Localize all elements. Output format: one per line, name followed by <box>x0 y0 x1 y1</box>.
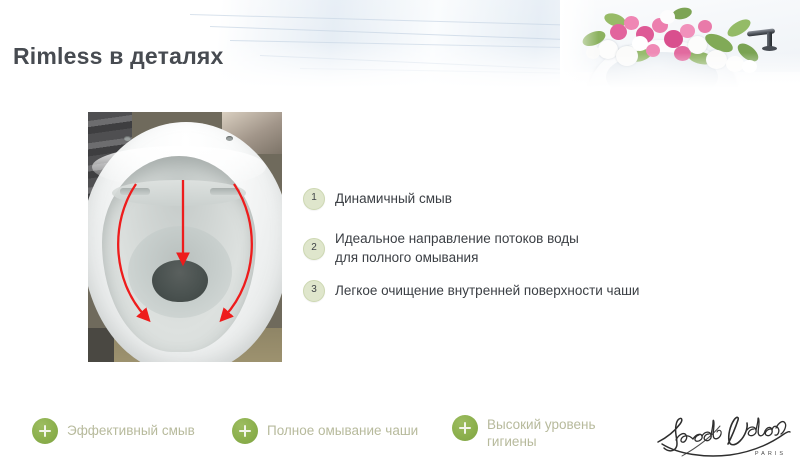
list-number-badge: 2 <box>303 238 325 260</box>
plus-icon <box>452 415 478 441</box>
left-swirl-arrow <box>118 184 145 316</box>
list-item-label: Легкое очищение внутренней поверхности ч… <box>335 280 639 300</box>
flowers-in-basin-photo <box>560 0 800 88</box>
list-item-label: Идеальное направление потоков воды для п… <box>335 228 579 267</box>
feature-label: Высокий уровень гигиены <box>487 415 596 450</box>
feature-item-full-rinse: Полное омывание чаши <box>232 418 418 444</box>
logo-tagline: PARIS <box>755 451 786 457</box>
feature-label: Эффективный смыв <box>67 418 195 439</box>
brand-logo: PARIS <box>652 408 792 464</box>
list-item-label: Динамичный смыв <box>335 188 452 208</box>
feature-item-effective-flush: Эффективный смыв <box>32 418 195 444</box>
list-item: 1 Динамичный смыв <box>303 188 452 210</box>
plus-icon <box>232 418 258 444</box>
slide-canvas: Rimless в деталях <box>0 0 800 468</box>
rimless-bowl-top-view-photo <box>88 112 282 362</box>
water-flow-arrows <box>88 112 282 362</box>
list-number-badge: 1 <box>303 188 325 210</box>
feature-label: Полное омывание чаши <box>267 418 418 439</box>
right-swirl-arrow <box>225 184 252 316</box>
list-item: 3 Легкое очищение внутренней поверхности… <box>303 280 639 302</box>
page-title: Rimless в деталях <box>13 43 224 70</box>
list-number-badge: 3 <box>303 280 325 302</box>
list-item: 2 Идеальное направление потоков воды для… <box>303 228 579 267</box>
feature-item-high-hygiene: Высокий уровень гигиены <box>452 415 596 450</box>
photo-edge-fade <box>560 0 800 88</box>
plus-icon <box>32 418 58 444</box>
